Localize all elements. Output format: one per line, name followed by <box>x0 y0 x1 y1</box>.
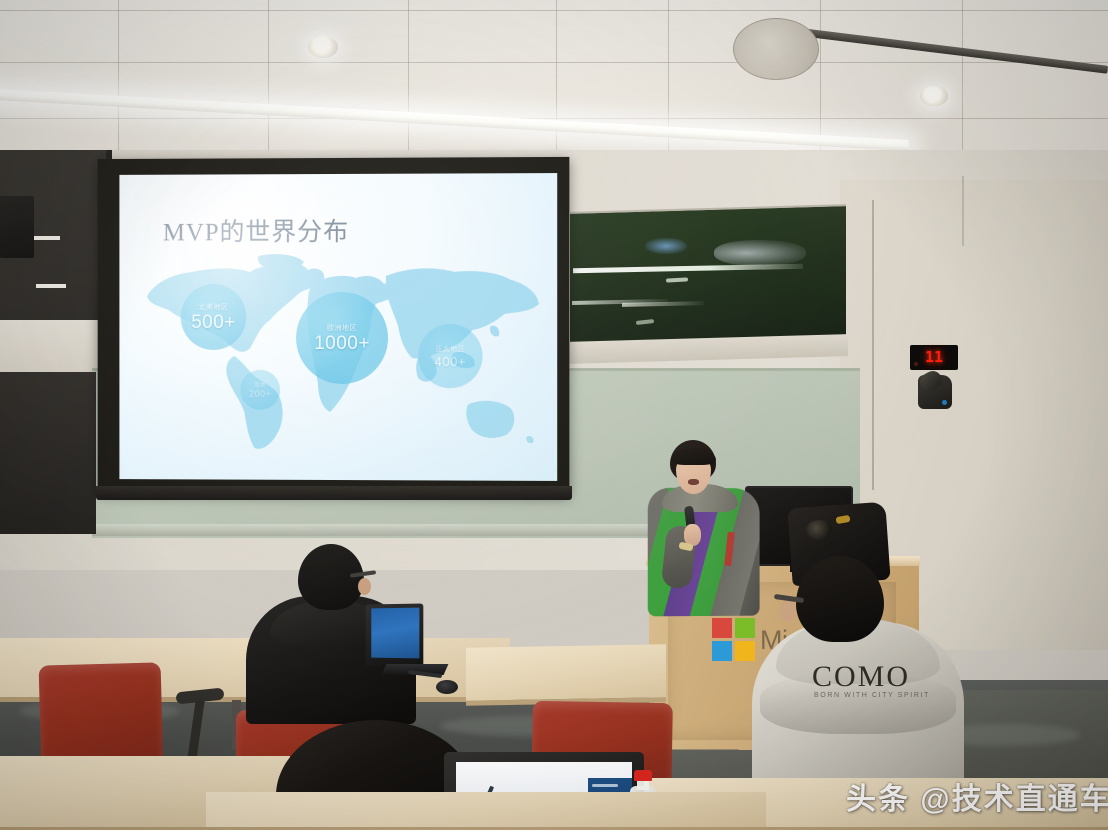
map-bubble-asia-pacific: 亚太地区 400+ <box>418 324 482 388</box>
ceiling-tile-line <box>0 10 1108 11</box>
watermark: 头条 @技术直通车 <box>846 774 1108 818</box>
chalkboard-left-panel <box>0 372 96 534</box>
map-bubble-south-america: 南美 200+ <box>240 370 280 410</box>
desk-row-2-right <box>466 644 666 705</box>
camera-lens-icon <box>806 520 832 540</box>
photo-scene: MVP的世界分布 <box>0 0 1108 830</box>
wall-light-strip <box>36 284 66 288</box>
ceiling-downlight <box>920 86 948 106</box>
led-indicator-dot <box>914 362 918 366</box>
laptop-screen <box>371 608 419 659</box>
map-bubble-emea: 欧洲地区 1000+ <box>296 292 388 384</box>
attendee-ear <box>780 600 796 622</box>
led-clock-digits: 11 <box>925 350 943 365</box>
panel-row <box>592 784 618 787</box>
logo-square-blue <box>712 641 732 661</box>
bubble-value: 1000+ <box>314 334 370 353</box>
window-reflection <box>645 238 687 254</box>
ceiling-speaker-grille <box>733 18 819 80</box>
wall-seam <box>872 200 874 490</box>
bubble-value: 500+ <box>191 313 235 332</box>
bubble-label: 亚太地区 <box>435 344 465 354</box>
presenter <box>640 440 770 640</box>
wall-led-clock: 11 <box>910 345 958 370</box>
slide-surface: MVP的世界分布 <box>119 173 557 481</box>
presenter-mouth <box>688 479 699 485</box>
bubble-label: 北美地区 <box>199 302 229 312</box>
ceiling-tile-line <box>0 118 1108 119</box>
bubble-label: 南美 <box>254 381 266 389</box>
ceiling-tile-line <box>0 62 1108 63</box>
bubble-label: 欧洲地区 <box>327 323 357 333</box>
bubble-value: 200+ <box>249 390 271 399</box>
camera-status-led <box>942 400 947 405</box>
presenter-fringe <box>671 448 716 465</box>
hoodie-brand-text: COMO <box>812 660 910 694</box>
projector-screen-bottom-bar <box>96 486 572 500</box>
wall-seam <box>962 176 964 246</box>
desk-front-mid <box>206 792 766 830</box>
bubble-value: 400+ <box>435 355 466 368</box>
projector-screen: MVP的世界分布 <box>98 157 570 495</box>
mouse-device <box>436 680 458 694</box>
attendee-ear <box>358 578 371 595</box>
bottle-cap <box>634 770 652 781</box>
wall-monitor <box>0 196 34 258</box>
ceiling-downlight <box>308 36 338 58</box>
hoodie-sub-text: BORN WITH CITY SPIRIT <box>814 692 930 699</box>
slide-title: MVP的世界分布 <box>163 212 349 248</box>
map-bubble-north-america: 北美地区 500+ <box>181 284 247 350</box>
window-reflection <box>714 240 806 266</box>
attendee-head <box>796 556 884 642</box>
left-lower-wall <box>0 320 100 380</box>
